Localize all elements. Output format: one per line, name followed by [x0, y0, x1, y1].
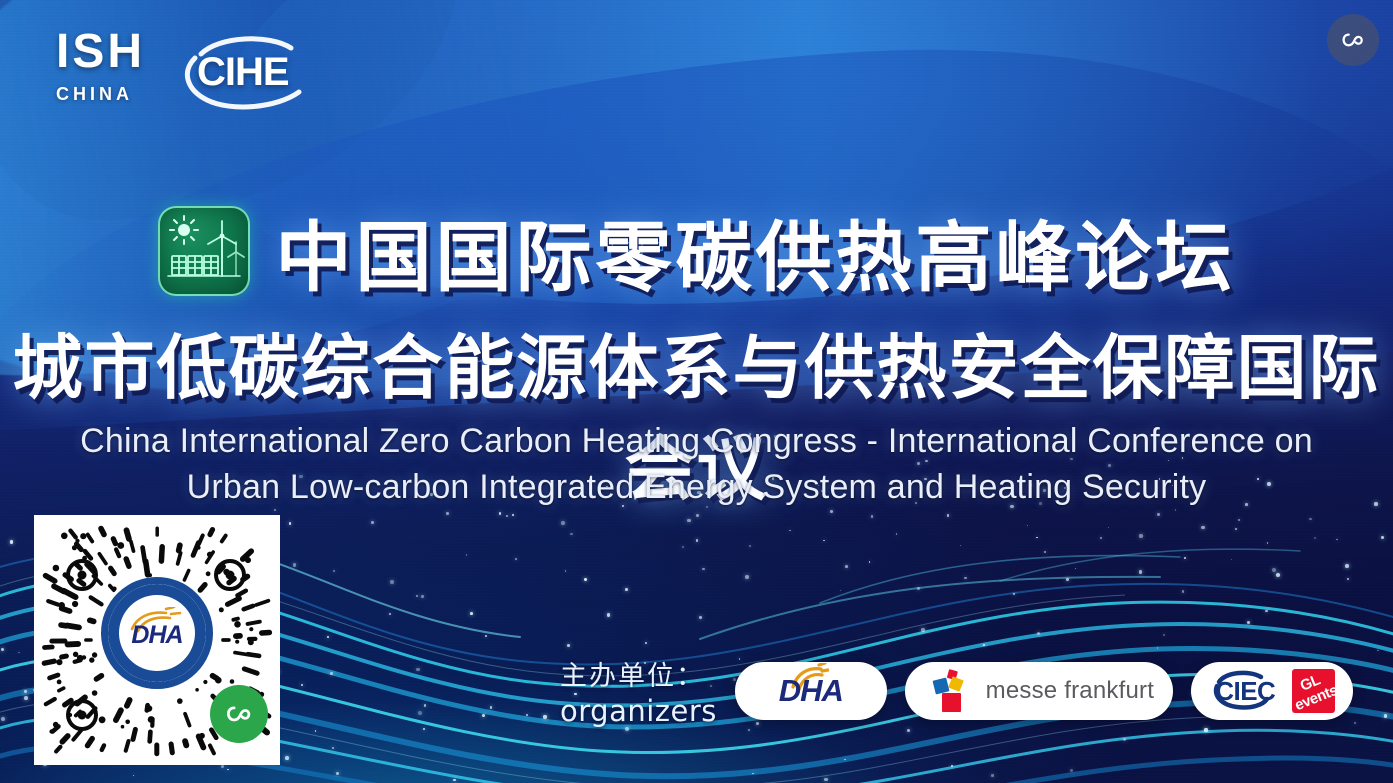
qr-dot — [207, 552, 213, 558]
header-logos: ISH CHINA CIHE — [56, 28, 323, 112]
qr-dot — [248, 639, 254, 645]
qr-dot — [82, 655, 86, 659]
ish-logo-text: ISH — [56, 28, 145, 76]
qr-dot — [112, 587, 116, 591]
qr-dot — [230, 679, 235, 684]
cdha-logo-text: DHA — [779, 673, 843, 709]
qr-dot — [75, 539, 79, 543]
title-en-block: China International Zero Carbon Heating … — [0, 418, 1393, 510]
qr-miniprogram-badge — [210, 685, 268, 743]
title-line-1-row: 中国国际零碳供热高峰论坛 — [0, 196, 1393, 306]
qr-dash — [65, 700, 72, 705]
qr-logo-text: DHA — [131, 621, 182, 650]
qr-dot — [89, 657, 94, 662]
qr-dash — [248, 654, 259, 656]
qr-dot — [57, 680, 62, 685]
ciec-logo-text: CIEC — [1215, 676, 1275, 707]
qr-dot — [215, 677, 222, 684]
qr-miniprogram-glyph — [222, 697, 256, 731]
qr-dash — [179, 545, 180, 550]
qr-dash — [222, 536, 226, 542]
qr-dash — [77, 544, 82, 550]
cdha-logo[interactable]: DHA — [735, 662, 887, 720]
qr-dash — [133, 729, 135, 739]
qr-dash — [50, 675, 59, 678]
qr-dash — [56, 747, 60, 752]
cihe-logo-text: CIHE — [197, 50, 289, 95]
qr-dot — [206, 571, 211, 576]
poster-stage: ISH CHINA CIHE — [0, 0, 1393, 783]
qr-dash — [256, 601, 268, 605]
qr-dash — [101, 529, 104, 535]
qr-dash — [126, 741, 129, 751]
qr-dash — [199, 535, 203, 543]
qr-dash — [99, 554, 106, 564]
qr-dash — [150, 732, 151, 742]
qr-dot — [117, 542, 124, 549]
gl-events-text: GL events — [1292, 669, 1335, 713]
qr-dot — [199, 733, 205, 739]
qr-dot — [235, 640, 239, 644]
qr-dash — [237, 591, 246, 596]
qr-dot — [58, 602, 65, 609]
qr-dash — [44, 661, 54, 663]
qr-dot — [73, 652, 78, 657]
qr-dot — [53, 565, 60, 572]
cihe-logo: CIHE — [173, 32, 323, 112]
gl-events-logo: GL events — [1292, 669, 1335, 713]
qr-dot — [148, 716, 155, 723]
qr-dash — [131, 541, 134, 551]
qr-dash — [102, 745, 104, 750]
qr-dash — [68, 644, 79, 645]
qr-dot — [72, 601, 78, 607]
qr-dash — [71, 531, 76, 538]
ciec-gl-events-logo[interactable]: CIEC GL events — [1191, 662, 1353, 720]
qr-dot — [92, 690, 98, 696]
title-en-line2: Urban Low-carbon Integrated Energy Syste… — [0, 464, 1393, 510]
qr-dash — [184, 571, 188, 581]
messe-frankfurt-text: messe frankfurt — [986, 677, 1154, 705]
organizers-label-en: organizers — [560, 694, 717, 728]
qr-dot — [80, 533, 86, 539]
qr-dash — [210, 746, 214, 754]
title-en-line1: China International Zero Carbon Heating … — [0, 418, 1393, 464]
qr-dash — [178, 553, 181, 564]
qr-dash — [235, 653, 247, 655]
qr-dash — [126, 559, 129, 566]
qr-dash — [248, 622, 260, 624]
messe-frankfurt-logo[interactable]: messe frankfurt — [905, 662, 1173, 720]
qr-dash — [127, 530, 129, 539]
qr-dash — [161, 547, 162, 561]
qr-dash — [116, 710, 121, 720]
qr-logo-inner: DHA — [119, 595, 195, 671]
qr-dash — [46, 699, 55, 704]
qr-dash — [210, 530, 213, 535]
qr-dash — [200, 585, 205, 591]
qr-dash — [76, 564, 81, 568]
qr-dot — [53, 722, 59, 728]
miniprogram-glyph — [1338, 25, 1368, 55]
qr-dash — [62, 608, 70, 611]
qr-dash — [262, 633, 270, 634]
qr-dot — [146, 705, 152, 711]
qr-dot — [72, 545, 77, 550]
qr-dash — [79, 581, 84, 585]
qr-dot — [99, 716, 106, 723]
qr-dot — [195, 688, 199, 692]
qr-dot — [61, 533, 68, 540]
qr-dash — [228, 598, 240, 604]
qr-dash — [88, 739, 93, 746]
qr-dot — [121, 725, 125, 729]
qr-dash — [185, 714, 189, 726]
qr-dash — [143, 548, 145, 562]
organizers-label-cn: 主办单位： — [560, 654, 717, 693]
title-cn-line1: 中国国际零碳供热高峰论坛 — [276, 196, 1236, 306]
qr-dot — [245, 557, 251, 563]
qr-dot — [219, 607, 224, 612]
qr-dot — [125, 720, 130, 725]
wechat-miniprogram-icon[interactable] — [1327, 14, 1379, 66]
qr-dash — [48, 601, 58, 605]
renewable-energy-icon — [158, 206, 250, 296]
qr-dash — [54, 586, 64, 591]
ish-china-logo: ISH CHINA — [56, 28, 145, 103]
qr-center-logo: DHA — [101, 577, 213, 689]
qr-dash — [90, 620, 94, 621]
qr-dash — [127, 700, 130, 706]
qr-dash — [116, 549, 119, 556]
qr-dash — [62, 736, 68, 742]
ciec-mark: CIEC — [1209, 669, 1282, 713]
qr-dash — [96, 676, 101, 679]
ish-logo-subtext: CHINA — [56, 85, 145, 103]
qr-dot — [56, 659, 62, 665]
qr-dash — [244, 669, 257, 673]
qr-dash — [113, 539, 115, 544]
qr-dot — [234, 621, 241, 628]
qr-dot — [203, 680, 207, 684]
qr-dash — [233, 619, 238, 620]
qr-dash — [45, 647, 53, 648]
qr-dash — [62, 656, 67, 657]
organizers-row: 主办单位： organizers DHA messe frankfurt — [560, 654, 1353, 728]
qr-dash — [171, 744, 172, 753]
qr-dash — [61, 625, 66, 626]
qr-dash — [185, 741, 186, 745]
qr-dash — [244, 606, 253, 609]
qr-dash — [46, 576, 55, 581]
qr-dash — [88, 535, 93, 542]
qr-dot — [92, 652, 97, 657]
qr-dash — [59, 688, 64, 691]
renewable-energy-glyph — [160, 208, 248, 294]
qr-dash — [91, 597, 102, 604]
qr-dot — [49, 729, 53, 733]
qr-dot — [196, 545, 200, 549]
qr-dot — [249, 627, 253, 631]
qr-dash — [111, 568, 115, 573]
qr-dot — [177, 698, 183, 704]
messe-frankfurt-squares-icon — [928, 668, 974, 714]
qr-dash — [73, 730, 81, 739]
wechat-miniprogram-qr-code[interactable]: DHA — [34, 515, 280, 765]
organizers-label: 主办单位： organizers — [560, 654, 717, 728]
